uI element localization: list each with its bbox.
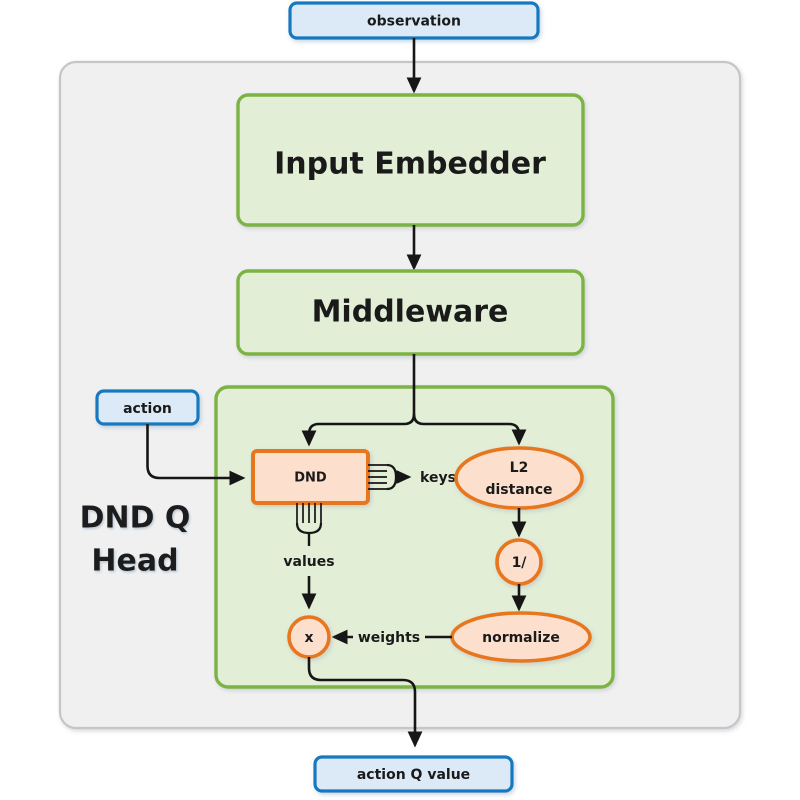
l2-distance-label-line2: distance	[485, 482, 552, 498]
observation-label: observation	[367, 14, 461, 30]
dnd-q-head-diagram: observation Input Embedder Middleware DN…	[0, 0, 800, 800]
action-q-value-label: action Q value	[357, 767, 470, 783]
dnd-q-head-label-line1: DND Q	[80, 501, 191, 536]
normalize-label: normalize	[482, 630, 560, 646]
node-dnd[interactable]: DND	[253, 451, 368, 503]
values-edge-label: values	[283, 554, 334, 570]
node-reciprocal[interactable]: 1/	[497, 540, 541, 584]
reciprocal-label: 1/	[512, 555, 528, 571]
action-label: action	[123, 401, 172, 417]
node-l2-distance[interactable]: L2 distance	[456, 448, 582, 508]
node-input-embedder[interactable]: Input Embedder	[238, 95, 583, 225]
node-middleware[interactable]: Middleware	[238, 271, 583, 354]
node-action[interactable]: action	[97, 391, 198, 424]
l2-distance-ellipse	[456, 448, 582, 508]
middleware-label: Middleware	[312, 295, 509, 330]
node-observation[interactable]: observation	[290, 3, 538, 38]
dnd-label: DND	[294, 471, 327, 486]
input-embedder-label: Input Embedder	[274, 147, 546, 182]
l2-distance-label-line1: L2	[510, 460, 529, 476]
node-action-q-value[interactable]: action Q value	[315, 757, 512, 791]
multiply-label: x	[304, 630, 313, 646]
node-normalize[interactable]: normalize	[452, 613, 590, 661]
dnd-q-head-label-line2: Head	[91, 544, 178, 579]
diagram-canvas: observation Input Embedder Middleware DN…	[0, 0, 800, 800]
weights-edge-label: weights	[358, 630, 420, 646]
node-multiply[interactable]: x	[289, 617, 329, 657]
keys-edge-label: keys	[420, 470, 456, 486]
